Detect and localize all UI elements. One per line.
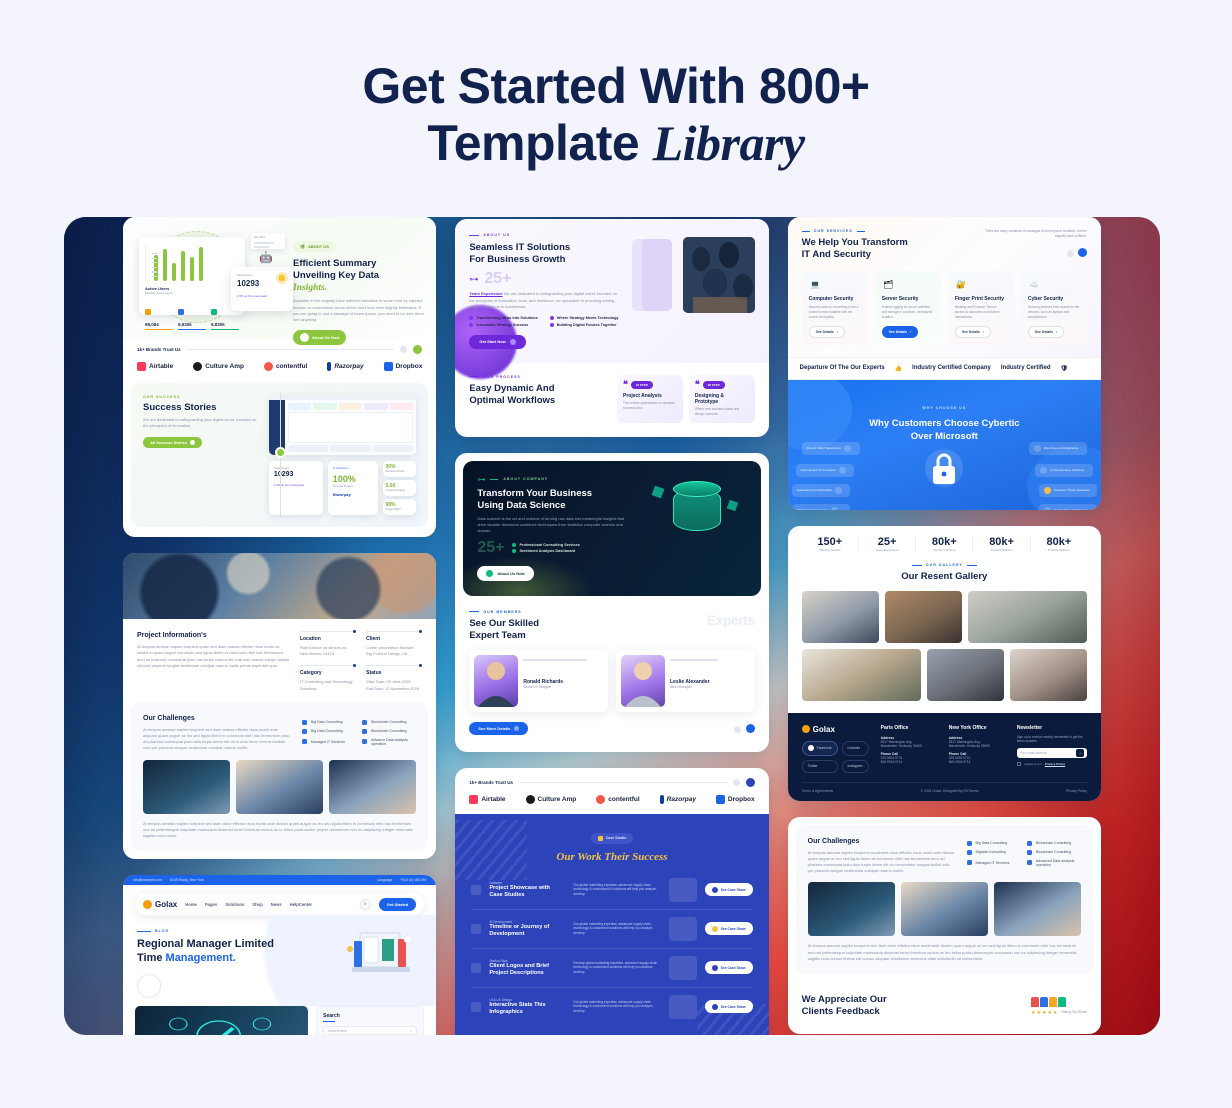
service-desc: Enable logging for server activities and…	[882, 305, 934, 320]
heading-line-1: Get Started With 800+	[362, 58, 869, 114]
get-started-button[interactable]: Get Started	[379, 898, 417, 911]
feature-item: Where Strategy Meets Technology	[550, 316, 622, 320]
avatar	[621, 655, 665, 707]
benefit-chip: Comprehensive Solutions	[1035, 464, 1093, 477]
nav-item-helpcenter[interactable]: HelpCenter	[290, 902, 312, 907]
checklist-item: Blockchain Consulting	[362, 729, 416, 734]
social-twitter[interactable]: Twitter	[802, 760, 838, 773]
feature-item: Transforming Ideas Into Solutions	[469, 316, 541, 320]
total-users-card: Total Users 10293 🪙 1.5% up from past we…	[231, 267, 293, 311]
nav-item-news[interactable]: News	[271, 902, 282, 907]
row-desc: Develop global marketing expertise, adva…	[573, 961, 660, 976]
project-meta-client: Client Lorem procreation Michael Big For…	[366, 631, 422, 657]
ds-feature: Professional Consulting Services	[512, 543, 579, 547]
fingerprint-icon: 🔐	[955, 278, 968, 291]
seamless-team-image	[683, 237, 755, 313]
row-number	[471, 963, 481, 973]
golax-logo[interactable]: Golax	[143, 900, 177, 909]
row-thumbnail	[669, 878, 697, 902]
database-illustration	[667, 479, 727, 541]
avatar	[474, 655, 518, 707]
template-card-project[interactable]: Project Information's At tempus aenean s…	[123, 553, 436, 859]
ds-big-number: 25+	[477, 540, 504, 556]
footer-privacy[interactable]: Privacy Policy	[1066, 789, 1087, 793]
nav-item-shop[interactable]: Shop	[252, 902, 262, 907]
stat-cell: 80k+Product Delivery	[973, 536, 1030, 553]
chart-y-axis	[152, 253, 157, 277]
nav-item-home[interactable]: Home	[185, 902, 197, 907]
success-eyebrow: OUR SUCCESS	[143, 395, 261, 399]
brand-logo-culture-amp: Culture Amp	[193, 362, 244, 371]
checklist-item: Big Data Consulting	[302, 729, 356, 734]
stat-item: 8,930k	[178, 302, 206, 331]
row-title-2: Development	[489, 931, 565, 938]
project-body: At tempus aenean sapien torquent quam se…	[137, 644, 290, 669]
brand-logo-contentful: contentful	[264, 362, 307, 371]
service-card-cyber-security[interactable]: ☁️ Cyber Security Securing devices that …	[1021, 271, 1087, 345]
footer-office-paris: Paris Office Address 4517 Washington Avg…	[881, 725, 937, 773]
blog-title-1: Regional Manager Limited	[137, 938, 307, 952]
challenges-gallery	[143, 760, 416, 814]
seamless-lead: Years Experience	[469, 291, 502, 296]
checklist-item: Managed IT Services	[967, 859, 1021, 867]
footer-logo[interactable]: Golax	[802, 725, 869, 734]
analytics-title-1: Efficient Summary	[293, 258, 424, 270]
ds-about-button[interactable]: About Us Now	[477, 566, 533, 581]
kpi-side-item: 30%Services Growth	[383, 461, 417, 477]
team-member-card[interactable]: Ronald Richards Senior UX Designer	[469, 650, 608, 712]
success-title: Success Stories	[143, 402, 261, 414]
golax-mark-icon	[802, 725, 810, 733]
row-number	[471, 885, 481, 895]
service-desc: Banking and Finance: Secure access to ac…	[955, 305, 1007, 320]
prev-arrow[interactable]	[733, 779, 740, 786]
success-body: We are dedicated to safeguarding your di…	[143, 417, 261, 429]
search-widget-title: Search	[323, 1013, 417, 1019]
browser-mock	[269, 395, 416, 455]
row-thumbnail	[669, 956, 697, 980]
cyber-eyebrow: WHY CHOOSE US	[922, 406, 966, 410]
row-title-1: Timeline or Journey of	[489, 924, 565, 931]
checklist-item: Advance Data analysis operation	[362, 738, 416, 746]
benefit-chip: Cutting Edge Technology	[1039, 504, 1097, 510]
chart-widget: Active Users Monthly active users 98,084…	[139, 237, 245, 315]
heading-line-2-plain: Template	[427, 115, 652, 171]
gallery-image[interactable]	[802, 591, 879, 643]
social-linkedin[interactable]: Linkedin	[842, 741, 869, 756]
seamless-eyebrow: ABOUT US	[483, 233, 510, 237]
stat-value: 6,830k	[211, 322, 239, 327]
ds-title-1: Transform Your Business	[477, 488, 627, 500]
see-details-button[interactable]: See Details›	[882, 326, 918, 338]
analytics-title-2: Unveiling Key Data	[293, 270, 424, 282]
brand-logo-razorpay: Razorpay	[660, 795, 696, 804]
experts-watermark: Experts	[707, 612, 755, 628]
marquee-item: Departure Of The Our Experts	[800, 365, 885, 371]
challenges-section: Our Challenges At tempus aenean sapien t…	[131, 702, 428, 851]
checklist-item: Bigdata Consulting	[967, 850, 1021, 855]
checklist-item: Blockchain Consulting	[1027, 850, 1081, 855]
project-meta-location: Location Rain fortune lot ultrices us Ne…	[300, 631, 356, 657]
template-card-success[interactable]: 1k+ Brands Trust Us Airtable Culture Amp…	[455, 768, 768, 1035]
security-title-2: IT And Security	[802, 249, 908, 261]
team-eyebrow: OUR MEMBERS	[483, 610, 521, 614]
kpi-success-project: IT Solutions 100% Success Project Razorp…	[328, 461, 378, 515]
gallery-image	[994, 882, 1081, 936]
work-row[interactable]: AI Development Timeline or Journey of De…	[471, 910, 752, 949]
ds-eyebrow: ABOUT COMPANY	[503, 477, 548, 481]
brand-logo-razorpay: Razorpay	[327, 362, 363, 371]
project-hero-image	[123, 553, 436, 619]
see-details-button[interactable]: See Details›	[809, 326, 845, 338]
gallery-image	[236, 760, 323, 814]
see-case-button[interactable]: See Case Show	[705, 922, 753, 935]
row-title-1: Client Logos and Brief	[489, 963, 565, 970]
template-card-analytics[interactable]: Active Users Monthly active users 98,084…	[123, 217, 436, 537]
stat-cell: 80k+Product Delivery	[916, 536, 973, 553]
flow-title-2: Optimal Workflows	[469, 395, 607, 407]
row-thumbnail	[669, 917, 697, 941]
service-title: Server Security	[882, 296, 934, 302]
stat-item: 98,084	[145, 302, 173, 331]
row-title-1: Project Showcase with	[489, 885, 565, 892]
search-icon: ⌕	[410, 1029, 412, 1033]
project-title: Project Information's	[137, 631, 290, 640]
kpi-side-item: 98%Project Effect	[383, 499, 417, 515]
analytics-body: Available in the majority have suffered …	[293, 298, 424, 323]
robot-icon: 🤖	[259, 251, 273, 264]
challenges-title: Our Challenges	[143, 714, 292, 723]
next-arrow[interactable]	[413, 345, 422, 354]
row-number	[471, 1002, 481, 1012]
template-showcase: Active Users Monthly active users 98,084…	[64, 217, 1160, 1035]
seamless-title-2: For Business Growth	[469, 254, 622, 266]
process-step-card[interactable]: ❝ 02 STEP Designing & Prototype Where ne…	[689, 375, 755, 423]
benefit-chip: Commitment To Innovation	[796, 464, 854, 477]
challenges2-outro: At tempus aenean sapien torquent sed dia…	[808, 943, 1081, 962]
footer-terms[interactable]: Terms & Agreements	[802, 789, 833, 793]
decorative-circle	[137, 974, 161, 998]
brand-logo-dropbox: Dropbox	[384, 362, 423, 371]
social-instagram[interactable]: Instagram	[842, 760, 869, 773]
gallery-image	[808, 882, 895, 936]
legend-title: Jan 2024	[254, 236, 282, 240]
topbar-phone: +910 (0) 456-789	[400, 878, 426, 882]
folder-icon: 🗂	[882, 278, 895, 291]
stats-row: 150+Winning Awards 25+Years Experience 8…	[788, 526, 1101, 562]
see-case-button[interactable]: See Case Show	[705, 1000, 753, 1013]
footer-newsletter: Newsletter Sign up to receive weekly new…	[1017, 725, 1087, 773]
challenges-body: At tempus aenean sapien torquent sed dia…	[143, 727, 292, 752]
security-title-1: We Help You Transform	[802, 237, 908, 249]
gallery-image[interactable]	[802, 649, 921, 701]
brand-logo-contentful: contentful	[596, 795, 639, 804]
get-start-now-button[interactable]: Get Start Now	[469, 335, 525, 349]
challenges2-gallery	[808, 882, 1081, 936]
row-desc: Our global marketing expertise, advanced…	[573, 883, 660, 898]
service-title: Finger Print Security	[955, 296, 1007, 302]
heading-line-2-italic: Library	[653, 115, 805, 171]
marquee-strip: Departure Of The Our Experts 👍 Industry …	[788, 357, 1101, 380]
member-role: Web Developer	[670, 685, 750, 690]
challenges2-title: Our Challenges	[808, 837, 957, 846]
topbar-email: info@example.com	[133, 878, 162, 882]
blog-eyebrow: BLOG	[155, 929, 169, 933]
gallery-image	[901, 882, 988, 936]
bar-chart	[145, 243, 239, 281]
topbar-language[interactable]: Language	[377, 878, 392, 882]
template-card-security[interactable]: OUR SERVICES We Help You Transform IT An…	[788, 217, 1101, 510]
gallery-image[interactable]	[1010, 649, 1087, 701]
stat-value: 98,084	[145, 322, 173, 327]
shield-icon: 🛡	[1061, 365, 1069, 372]
checklist-item: Managed IT Services	[302, 738, 356, 746]
seamless-big-number: 25+	[484, 271, 511, 287]
benefit-chip: Proven Client Satisfaction	[802, 442, 860, 455]
kpi-side-item: 5.00Customer Rating	[383, 480, 417, 496]
row-number	[471, 924, 481, 934]
checklist-item: Big Data Consulting	[302, 720, 356, 725]
challenges-outro: At tempus aenean sapien torquent sed dia…	[143, 821, 416, 840]
checklist-item: Advanced Data analysis operation	[1027, 859, 1081, 867]
gallery-image	[143, 760, 230, 814]
prev-arrow[interactable]	[400, 346, 407, 353]
checklist-item: Blockchain Consulting	[362, 720, 416, 725]
newsletter-submit-button[interactable]: →	[1076, 749, 1084, 757]
chart-subtitle: Monthly active users	[145, 291, 239, 296]
success-stories-section: OUR SUCCESS Success Stories We are dedic…	[131, 383, 428, 527]
plug-icon: ⊶	[469, 274, 478, 285]
gallery-eyebrow: OUR GALLERY	[926, 563, 963, 567]
all-success-stories-button[interactable]: All Success Stories	[143, 437, 202, 448]
checkbox-icon[interactable]	[1017, 762, 1021, 766]
leaf-icon: 🌿	[300, 244, 305, 249]
search-input[interactable]: Search here⌕	[323, 1026, 417, 1035]
blog-feature-image	[135, 1006, 308, 1035]
nav-item-solutions[interactable]: Solutions	[225, 902, 244, 907]
template-card-gallery[interactable]: 150+Winning Awards 25+Years Experience 8…	[788, 526, 1101, 801]
prev-arrow[interactable]	[1067, 250, 1074, 257]
flow-title-1: Easy Dynamic And	[469, 383, 607, 395]
case-studio-badge: Case Studio	[591, 833, 634, 844]
row-title-1: Interactive Stats This	[489, 1002, 565, 1009]
team-member-card[interactable]: Leslie Alexander Web Developer	[616, 650, 755, 712]
search-icon[interactable]: ⌕	[360, 899, 371, 910]
timeline-dot	[275, 447, 286, 458]
nav-item-pages[interactable]: Pages	[205, 902, 217, 907]
checklist-item: Big Data Consulting	[967, 841, 1021, 846]
seamless-title-1: Seamless IT Solutions	[469, 242, 622, 254]
benefit-chip: Proactive Threat Detection	[1039, 484, 1097, 497]
service-desc: Securing devices that connect to the net…	[1028, 305, 1080, 320]
project-meta-status: Status Start Date: 05 June 2025 End Date…	[366, 665, 422, 691]
total-delta: 1.5% up from past week	[237, 294, 287, 298]
coin-icon: 🪙	[276, 272, 288, 284]
stat-cell: 150+Winning Awards	[802, 536, 859, 553]
row-thumbnail	[669, 995, 697, 1019]
feature-item: Innovation Strategy Success	[469, 323, 541, 327]
client-avatars	[1031, 997, 1087, 1007]
consent-row[interactable]: I agree to our Privacy Policy	[1017, 762, 1087, 766]
stat-cell: 80k+Product Delivery	[1031, 536, 1087, 553]
blog-illustration	[342, 927, 422, 979]
gallery-image[interactable]	[885, 591, 962, 643]
gallery-title: Our Resent Gallery	[788, 571, 1101, 583]
brand-logo-culture-amp: Culture Amp	[526, 795, 577, 804]
process-step-card[interactable]: ❝ 01 STEP Project Analysis This enable o…	[617, 375, 683, 423]
security-eyebrow: OUR SERVICES	[814, 229, 853, 233]
template-card-blog[interactable]: info@example.com 8149 Rocky, New York La…	[123, 875, 436, 1035]
newsletter-input[interactable]: Your email address →	[1017, 748, 1087, 758]
blog-topbar: info@example.com 8149 Rocky, New York La…	[123, 875, 436, 885]
next-arrow[interactable]	[1078, 248, 1087, 257]
see-details-button[interactable]: See Details›	[955, 326, 991, 338]
step-title: Project Analysis	[623, 393, 677, 399]
step-desc: This enable optimization on advance busi…	[623, 401, 677, 411]
gallery-grid	[788, 591, 1101, 713]
ds-feature: Sentiment Analysis Dashboard	[512, 549, 579, 553]
service-card-fingerprint-security[interactable]: 🔐 Finger Print Security Banking and Fina…	[948, 271, 1014, 345]
cyber-title-2: Over Microsoft	[802, 431, 1087, 444]
service-title: Cyber Security	[1028, 296, 1080, 302]
gallery-image	[329, 760, 416, 814]
service-card-computer-security[interactable]: 💻 Computer Security Secures data by conv…	[802, 271, 868, 345]
success-brands-title: 1k+ Brands Trust Us	[469, 780, 513, 785]
brands-title: 1k+ Brands Trust Us	[137, 347, 181, 352]
brand-logo-dropbox: Dropbox	[716, 795, 755, 804]
work-row[interactable]: UI & UX Design Interactive Stats This In…	[471, 988, 752, 1026]
prev-arrow[interactable]	[734, 726, 741, 733]
service-card-server-security[interactable]: 🗂 Server Security Enable logging for ser…	[875, 271, 941, 345]
step-desc: Where new business ideas and design conn…	[695, 407, 749, 417]
brand-logo-airtable: Airtable	[469, 795, 505, 804]
see-case-button[interactable]: See Case Show	[705, 883, 753, 896]
analytics-dashboard-mock: Active Users Monthly active users 98,084…	[135, 229, 285, 321]
template-card-datascience[interactable]: ⊶ ABOUT COMPANY Transform Your Business …	[455, 453, 768, 752]
feedback-title-2: Clients Feedback	[802, 1006, 887, 1018]
benefit-chip: Guaranteed Confidentiality	[792, 484, 850, 497]
rating-label: Rating For Clients	[1061, 1010, 1087, 1015]
gallery-image[interactable]	[927, 649, 1004, 701]
marquee-item: Industry Certified	[1001, 365, 1051, 371]
row-title-2: Infographics	[489, 1009, 565, 1016]
member-role: Senior UX Designer	[523, 685, 603, 690]
row-title-2: Project Descriptions	[489, 970, 565, 977]
stat-cell: 25+Years Experience	[859, 536, 916, 553]
challenges2-body: At tempus aenean sapien torquent condime…	[808, 850, 957, 875]
row-desc: Our global marketing expertise, advanced…	[573, 922, 660, 937]
template-card-challenges[interactable]: Our Challenges At tempus aenean sapien t…	[788, 817, 1101, 1035]
feedback-title-1: We Appreciate Our	[802, 994, 887, 1006]
cloud-icon: ☁️	[1028, 278, 1041, 291]
checklist-item: Blockchain Consulting	[1027, 841, 1081, 846]
kpi-total-users: Total Users 10293 1.5% up from past week	[269, 461, 323, 515]
gallery-image[interactable]	[968, 591, 1087, 643]
row-desc: Our global marketing expertise, advanced…	[573, 1000, 660, 1015]
next-arrow[interactable]	[746, 778, 755, 787]
topbar-address: 8149 Rocky, New York	[170, 878, 204, 882]
blog-navbar: Golax Home Pages Solutions Shop News Hel…	[135, 893, 424, 915]
golax-mark-icon	[143, 900, 152, 909]
template-card-seamless[interactable]: ABOUT US Seamless IT Solutions For Busin…	[455, 219, 768, 437]
success-heading: Our Work Their Success	[471, 851, 752, 863]
social-facebook[interactable]: Facebook	[802, 741, 838, 756]
plug-icon: ⊶	[477, 475, 485, 484]
see-case-button[interactable]: See Case Show	[705, 961, 753, 974]
quote-icon: ❝	[695, 381, 700, 388]
footer-office-newyork: New York Office Address 4517 Washington …	[949, 725, 1005, 773]
ds-title-2: Using Data Science	[477, 500, 627, 512]
ds-body: Data science is the art and science of t…	[477, 516, 627, 535]
work-row[interactable]: Software Project Showcase with Case Stud…	[471, 871, 752, 910]
project-meta-category: Category IT Consulting and Technology So…	[300, 665, 356, 691]
service-desc: Secures data by converting it into a cod…	[809, 305, 861, 320]
work-row[interactable]: Startup Style Client Logos and Brief Pro…	[471, 949, 752, 988]
benefit-chip: 24/7 Support Response	[792, 504, 850, 510]
service-title: Computer Security	[809, 296, 861, 302]
stat-row: 98,084 8,930k 6,830k	[145, 302, 239, 331]
analytics-title-italic: Insights.	[293, 282, 424, 294]
marquee-item: Industry Certified Company	[912, 365, 991, 371]
privacy-policy-link[interactable]: Privacy Policy	[1045, 762, 1065, 766]
lock-illustration	[924, 444, 964, 490]
site-footer: Golax Facebook Linkedin Twitter Instagra…	[788, 713, 1101, 801]
step-title: Designing & Prototype	[695, 393, 749, 405]
computer-icon: 💻	[809, 278, 822, 291]
security-note: There are many variations of passages of…	[982, 229, 1087, 239]
cyber-title-1: Why Customers Choose Cybertic	[802, 418, 1087, 431]
quote-icon: ❝	[623, 381, 628, 388]
page-title: Get Started With 800+ Template Library	[0, 0, 1232, 172]
chart-legend: Jan 2024	[251, 233, 285, 249]
stat-value: 8,930k	[178, 322, 206, 327]
team-title-2: Expert Team	[469, 630, 754, 642]
benefit-chip: Expertise And Experience	[1029, 442, 1087, 455]
rating-stars: ★★★★★	[1031, 1010, 1058, 1016]
brand-logo-airtable: Airtable	[137, 362, 173, 371]
thumbs-up-icon: 👍	[895, 365, 902, 372]
search-widget: Search Search here⌕	[316, 1006, 424, 1035]
feature-item: Building Digital Futures Together	[550, 323, 622, 327]
see-details-button[interactable]: See Details›	[1028, 326, 1064, 338]
row-title-2: Case Studies	[489, 892, 565, 899]
next-arrow[interactable]	[746, 724, 755, 733]
see-more-details-button[interactable]: See More Details	[469, 722, 528, 735]
about-badge: 🌿ABOUT US	[293, 241, 336, 252]
about-us-button[interactable]: About Us Now	[293, 330, 346, 345]
footer-copyright: © 2024 Golax. Designed By RSTheme	[920, 789, 978, 793]
